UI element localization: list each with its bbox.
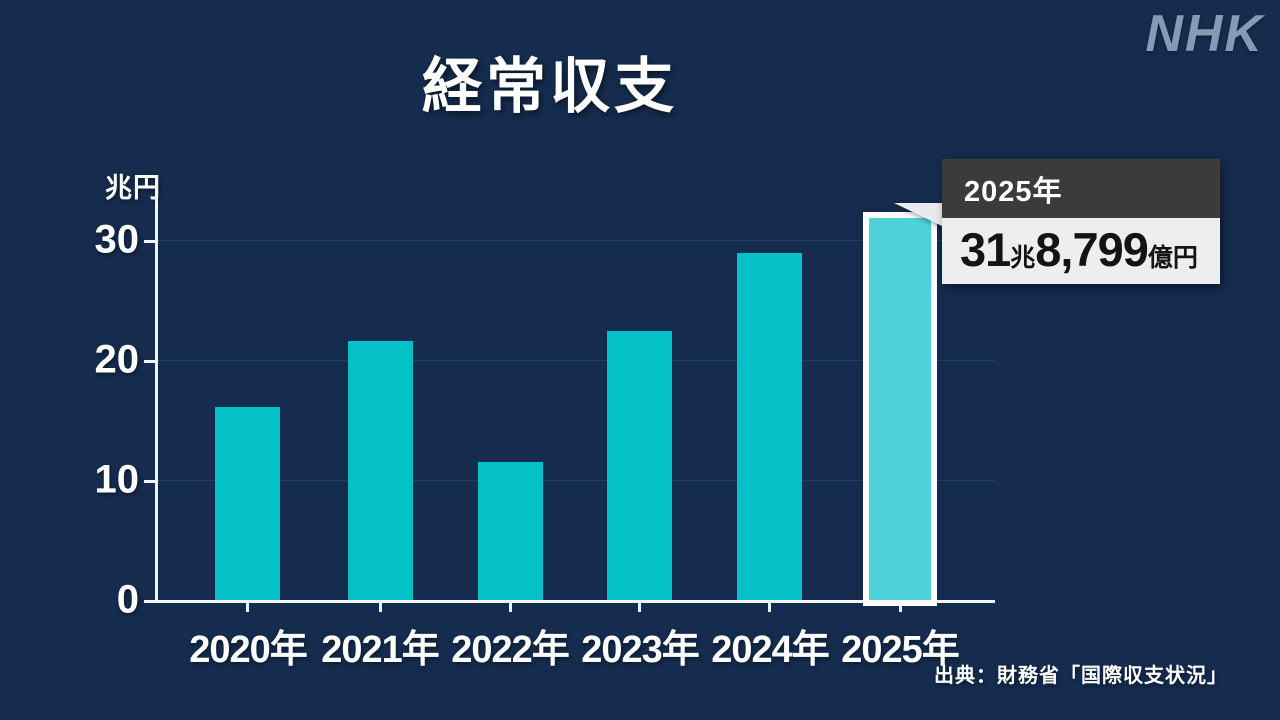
y-axis-unit-label: 兆円: [105, 166, 161, 205]
page-title: 経常収支: [0, 38, 1100, 125]
bar-2023[interactable]: [607, 331, 672, 600]
x-tick-2022: [509, 600, 512, 612]
x-tick-2020: [246, 600, 249, 612]
y-tick-label-30: 30: [95, 218, 140, 263]
callout-2025: 2025年 31兆8,799億円: [942, 159, 1220, 284]
x-tick-label-2022: 2022年: [451, 618, 569, 673]
x-axis-line: [149, 600, 995, 603]
y-tick-label-10: 10: [95, 458, 140, 503]
x-tick-2024: [768, 600, 771, 612]
y-tick-10: [144, 480, 155, 483]
x-tick-label-2024: 2024年: [711, 618, 829, 673]
callout-value-trillions: 31: [960, 223, 1010, 276]
callout-value: 31兆8,799億円: [942, 218, 1220, 284]
y-tick-0: [144, 600, 155, 603]
x-tick-2023: [638, 600, 641, 612]
bar-2021[interactable]: [348, 341, 413, 600]
y-axis-line: [155, 177, 158, 603]
callout-unit-okuen: 億円: [1148, 244, 1198, 272]
callout-value-oku: 8,799: [1035, 223, 1148, 276]
bar-2025[interactable]: [869, 218, 931, 600]
y-tick-30: [144, 240, 155, 243]
x-tick-2021: [379, 600, 382, 612]
callout-pointer: [894, 203, 944, 227]
bar-2024[interactable]: [737, 253, 802, 600]
plot-area: 30 20 10 0 2020年 2021年 2022年 2023年 2024年…: [155, 180, 995, 600]
callout-year: 2025年: [942, 159, 1220, 218]
chart-screen: NHK 経常収支 兆円 30 20 10 0 2020年: [0, 0, 1280, 720]
nhk-logo: NHK: [1145, 4, 1264, 64]
y-tick-label-20: 20: [95, 338, 140, 383]
y-tick-label-0: 0: [117, 578, 139, 623]
y-tick-20: [144, 360, 155, 363]
x-tick-label-2021: 2021年: [321, 618, 439, 673]
x-tick-label-2023: 2023年: [581, 618, 699, 673]
bar-2022[interactable]: [478, 462, 543, 600]
source-note: 出典：財務省「国際収支状況」: [934, 659, 1228, 688]
callout-unit-cho: 兆: [1010, 244, 1035, 272]
bar-2020[interactable]: [215, 407, 280, 600]
x-tick-2025: [899, 600, 902, 612]
x-tick-label-2020: 2020年: [189, 618, 307, 673]
